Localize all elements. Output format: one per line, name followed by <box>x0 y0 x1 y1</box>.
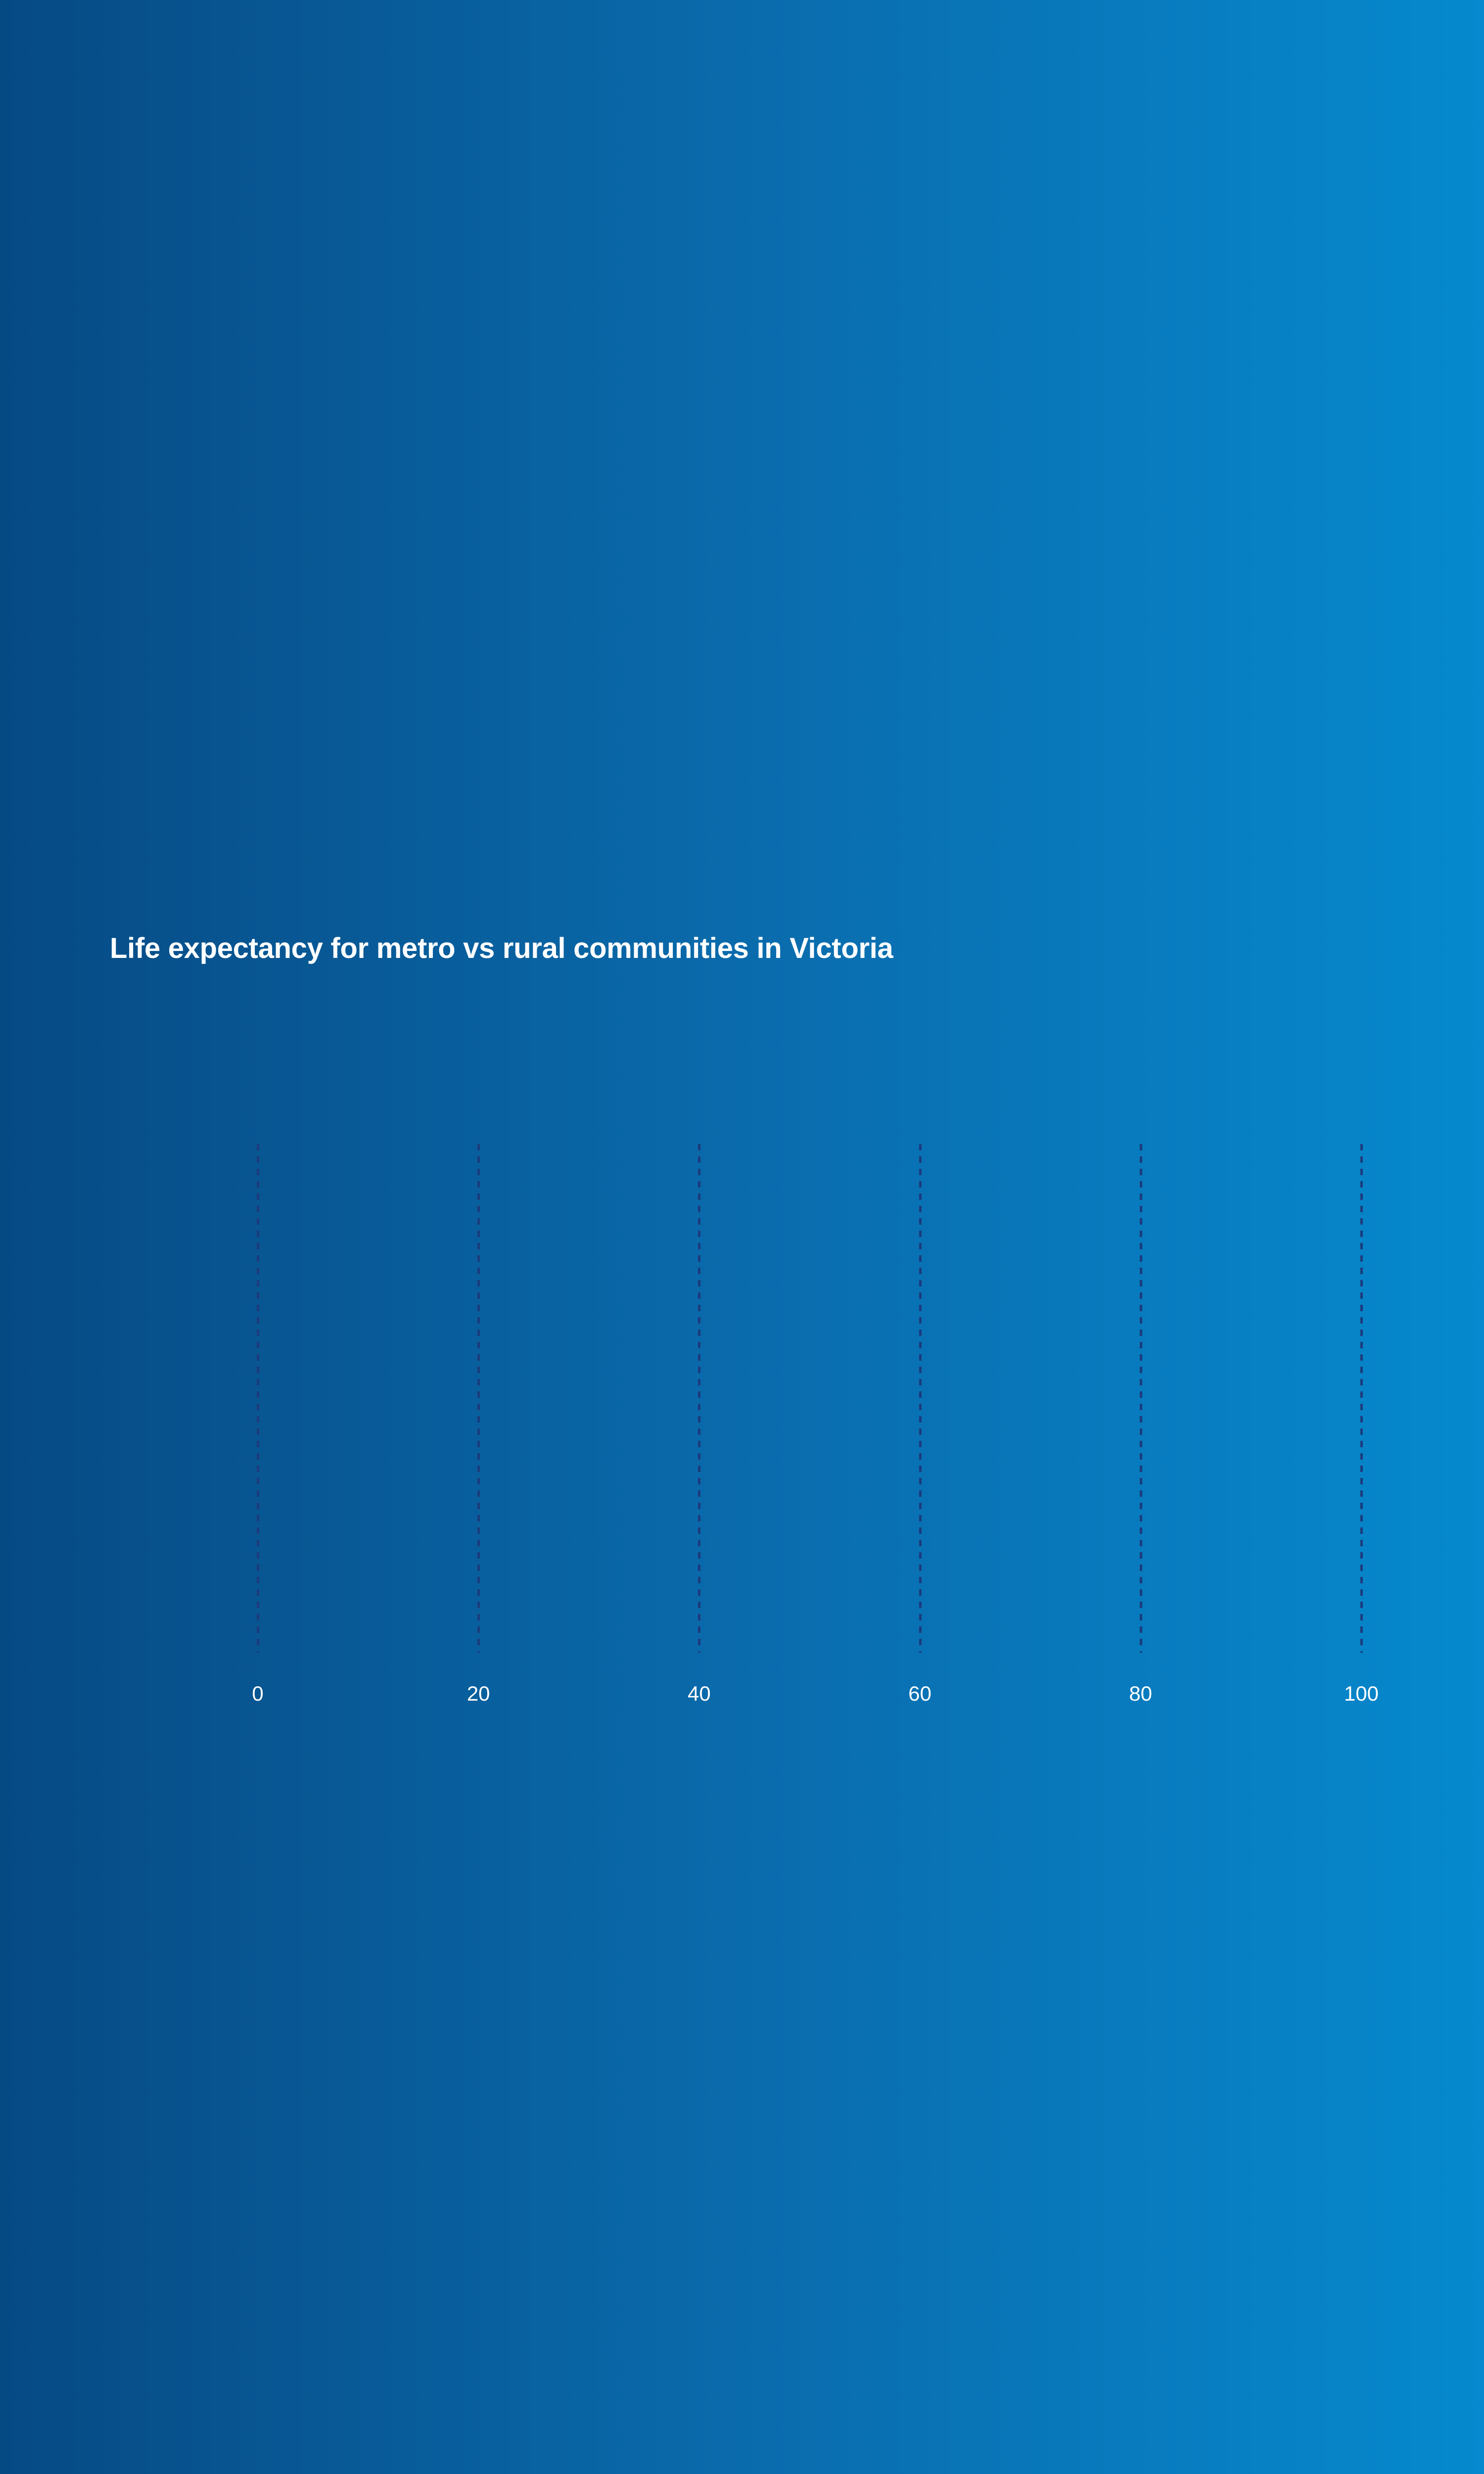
x-tick-label-40: 40 <box>688 1683 711 1704</box>
x-tick-label-100: 100 <box>1344 1683 1379 1704</box>
chart-title: Life expectancy for metro vs rural commu… <box>110 934 1396 963</box>
x-axis: 0 20 40 60 80 100 <box>258 1653 1361 1722</box>
x-tick-label-20: 20 <box>467 1683 490 1704</box>
plot-area <box>258 1144 1361 1653</box>
chart-canvas: Life expectancy for metro vs rural commu… <box>0 0 1484 2474</box>
plot-marks-layer <box>258 1144 1361 1653</box>
x-tick-label-0: 0 <box>252 1683 263 1704</box>
x-tick-label-80: 80 <box>1129 1683 1152 1704</box>
x-tick-label-60: 60 <box>908 1683 931 1704</box>
